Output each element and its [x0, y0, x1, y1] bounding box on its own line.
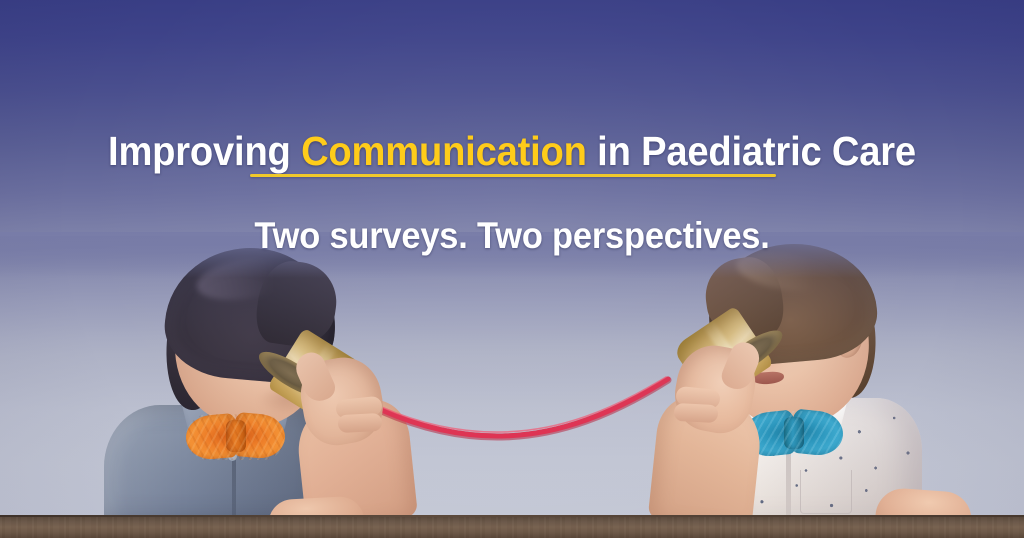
page-title: Improving Communication in Paediatric Ca… [36, 131, 988, 172]
page-subtitle: Two surveys. Two perspectives. [36, 217, 988, 254]
text-overlay: Improving Communication in Paediatric Ca… [0, 0, 1024, 538]
title-divider-rule [250, 174, 776, 177]
headline-text-after: in Paediatric Care [587, 128, 916, 174]
hero-banner: Improving Communication in Paediatric Ca… [0, 0, 1024, 538]
headline-accent-word: Communication [301, 128, 587, 174]
headline-text-before: Improving [108, 128, 301, 174]
